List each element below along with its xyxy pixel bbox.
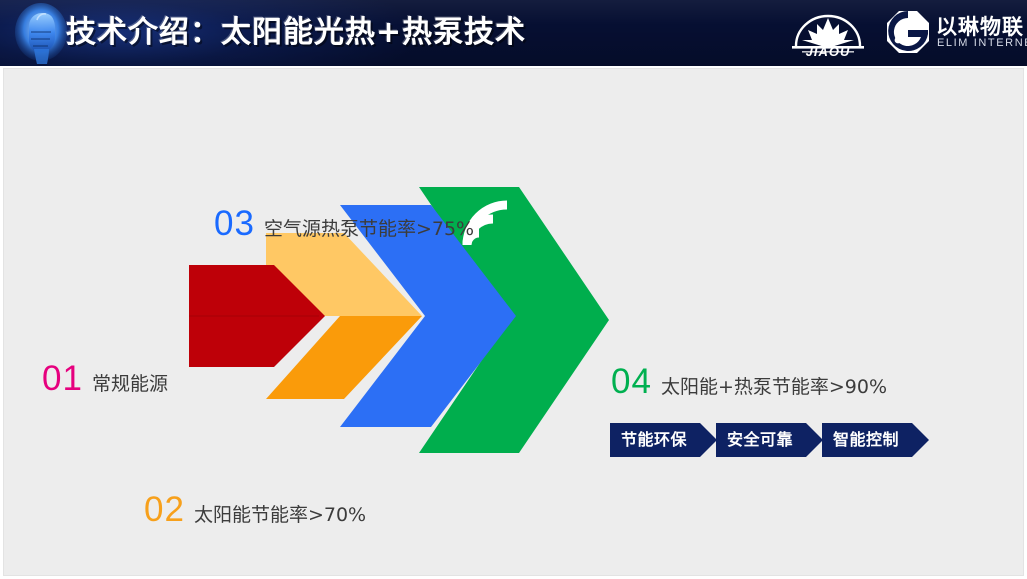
- elim-logo-mark: [885, 9, 931, 55]
- jiaou-logo-text: JIAOU: [786, 44, 870, 59]
- badge-safe-reliable[interactable]: 安全可靠: [716, 423, 806, 457]
- fist-icon: [12, 2, 70, 66]
- header-bar: 技术介绍：太阳能光热+热泵技术 JIAOU 以琳物联 ELIM INTERNET: [0, 0, 1027, 66]
- stage-text-01: 常规能源: [92, 369, 168, 396]
- stage-label-03[interactable]: 03 空气源热泵节能率>75%: [214, 204, 474, 244]
- elim-logo-en: ELIM INTERNET: [937, 37, 1027, 49]
- stage-text-03: 空气源热泵节能率>75%: [264, 214, 474, 241]
- stage-number-01: 01: [42, 359, 83, 399]
- stage-label-01[interactable]: 01 常规能源: [42, 359, 168, 399]
- badge-energy-saving[interactable]: 节能环保: [610, 423, 700, 457]
- feature-badge-row: 节能环保 安全可靠 智能控制: [610, 423, 912, 457]
- page-title: 技术介绍：太阳能光热+热泵技术: [66, 6, 526, 60]
- stage-number-02: 02: [144, 490, 185, 530]
- badge-smart-control[interactable]: 智能控制: [822, 423, 912, 457]
- diagram-canvas: 01 常规能源 02 太阳能节能率>70% 03 空气源热泵节能率>75% 04…: [3, 68, 1024, 576]
- stage-label-02[interactable]: 02 太阳能节能率>70%: [144, 490, 366, 530]
- stage-text-04: 太阳能+热泵节能率>90%: [661, 372, 887, 399]
- stage-number-03: 03: [214, 204, 255, 244]
- stage-text-02: 太阳能节能率>70%: [194, 500, 366, 527]
- chevron-stage-01[interactable]: [189, 265, 325, 367]
- stage-number-04: 04: [611, 362, 652, 402]
- slide: 技术介绍：太阳能光热+热泵技术 JIAOU 以琳物联 ELIM INTERNET: [0, 0, 1027, 579]
- stage-label-04[interactable]: 04 太阳能+热泵节能率>90%: [611, 362, 887, 402]
